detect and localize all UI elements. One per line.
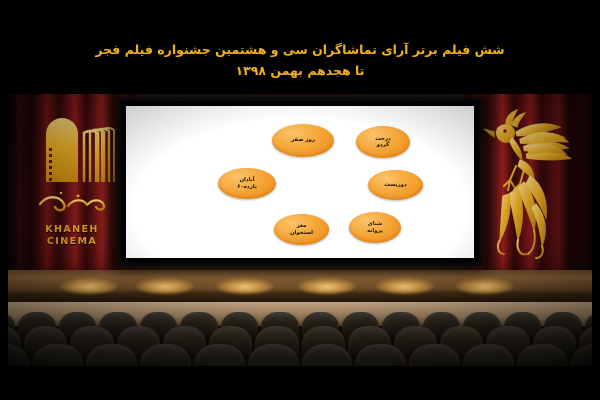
cinema-seat <box>140 344 191 366</box>
seat-row-front <box>8 344 592 366</box>
film-bubble-label: شنایپروانه <box>367 221 383 234</box>
cinema-seat <box>302 344 353 366</box>
cinema-seat <box>409 344 460 366</box>
cinema-scene: KHANEH CINEMA <box>8 94 592 366</box>
cinema-seat <box>32 344 83 366</box>
film-bubble: آبادانیازده۶۰ <box>218 168 276 199</box>
film-bubble-label: دوزیست <box>384 182 406 188</box>
film-bubble-label: مغزاستخوان <box>290 223 313 236</box>
khaneh-cinema-caption-line2: CINEMA <box>13 236 131 248</box>
cinema-seat <box>463 344 514 366</box>
cinema-seat <box>86 344 137 366</box>
cinema-seat <box>571 344 592 366</box>
footlight-4 <box>298 278 356 294</box>
cinema-screen-frame: روز صفردرختگردوآبادانیازده۶۰دوزیستمغزاست… <box>118 98 482 266</box>
khaneh-cinema-caption-line1: KHANEH <box>13 224 131 236</box>
audience-seating <box>8 312 592 366</box>
simorgh-phoenix-icon <box>476 104 580 274</box>
film-bubble: درختگردو <box>356 126 410 158</box>
title-line-date: تا هجدهم بهمن ۱۳۹۸ <box>0 60 600 81</box>
film-bubble: دوزیست <box>368 170 423 200</box>
cinema-seat <box>194 344 245 366</box>
khaneh-cinema-caption: KHANEH CINEMA <box>13 224 131 247</box>
screenshot-root: شش فیلم برتر آرای تماشاگران سی و هشتمین … <box>0 0 600 400</box>
page-title: شش فیلم برتر آرای تماشاگران سی و هشتمین … <box>0 40 600 81</box>
cinema-seat <box>8 344 29 366</box>
film-bubble-label: درختگردو <box>375 136 390 149</box>
film-bubble-label: روز صفر <box>291 137 315 143</box>
cinema-screen-surface: روز صفردرختگردوآبادانیازده۶۰دوزیستمغزاست… <box>126 106 474 258</box>
cinema-seat <box>248 344 299 366</box>
film-bubble: شنایپروانه <box>349 212 401 243</box>
film-bubble-label: آبادانیازده۶۰ <box>237 177 257 190</box>
footlight-3 <box>216 278 274 294</box>
cinema-seat <box>517 344 568 366</box>
footlight-5 <box>376 278 434 294</box>
khaneh-cinema-logo: KHANEH CINEMA <box>13 104 131 294</box>
cinema-seat <box>355 344 406 366</box>
title-line-primary: شش فیلم برتر آرای تماشاگران سی و هشتمین … <box>0 40 600 60</box>
footlight-2 <box>136 278 194 294</box>
fajr-simorgh-logo <box>469 104 587 294</box>
khaneh-cinema-mark-icon <box>24 104 120 222</box>
film-bubble: مغزاستخوان <box>274 214 329 245</box>
film-bubble: روز صفر <box>272 124 334 157</box>
